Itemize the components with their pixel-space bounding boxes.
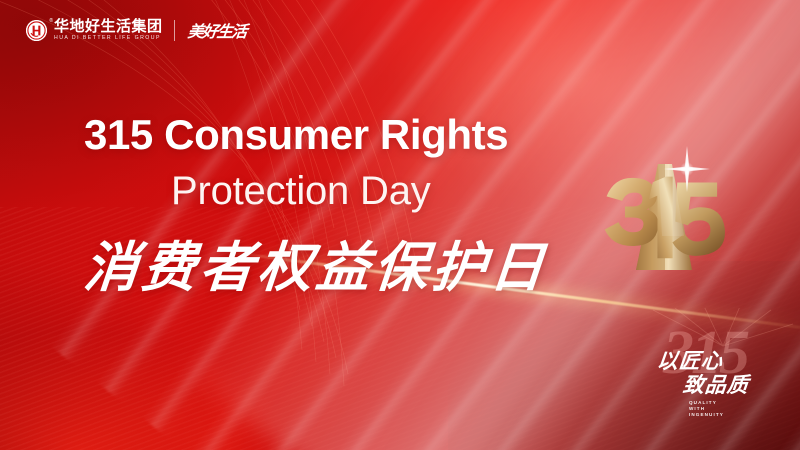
seal-english-line-3: INGENUITY [689, 412, 724, 418]
golden-315-sculpture [588, 136, 738, 286]
headline-english-line-2: Protection Day [171, 171, 431, 211]
brand-name-chinese: 华地好生活集团 [54, 19, 163, 34]
seal-chinese-line-1: 以匠心 [656, 350, 724, 371]
brand-name-english: HUA DI BETTER LIFE GROUP [54, 36, 163, 41]
logo-divider [174, 20, 175, 41]
seal-chinese-line-2: 致品质 [682, 374, 750, 395]
seal-english-lines: QUALITY WITH INGENUITY [689, 400, 724, 419]
brand-name-block: 华地好生活集团 HUA DI BETTER LIFE GROUP [54, 19, 163, 42]
quality-seal-block: 315 以匠心 致品质 QUALITY WITH INGENUITY [655, 322, 775, 427]
banner-canvas: ® 华地好生活集团 HUA DI BETTER LIFE GROUP 美好生活 … [0, 0, 800, 450]
headline-chinese: 消费者权益保护日 [82, 240, 551, 294]
headline-english-line-1: 315 Consumer Rights [84, 114, 508, 156]
brand-tagline-calligraphy: 美好生活 [186, 18, 247, 42]
registered-trademark-mark: ® [49, 19, 53, 24]
circular-h-emblem-icon: ® [26, 20, 47, 41]
brand-logo-lockup[interactable]: ® 华地好生活集团 HUA DI BETTER LIFE GROUP 美好生活 [26, 18, 246, 42]
